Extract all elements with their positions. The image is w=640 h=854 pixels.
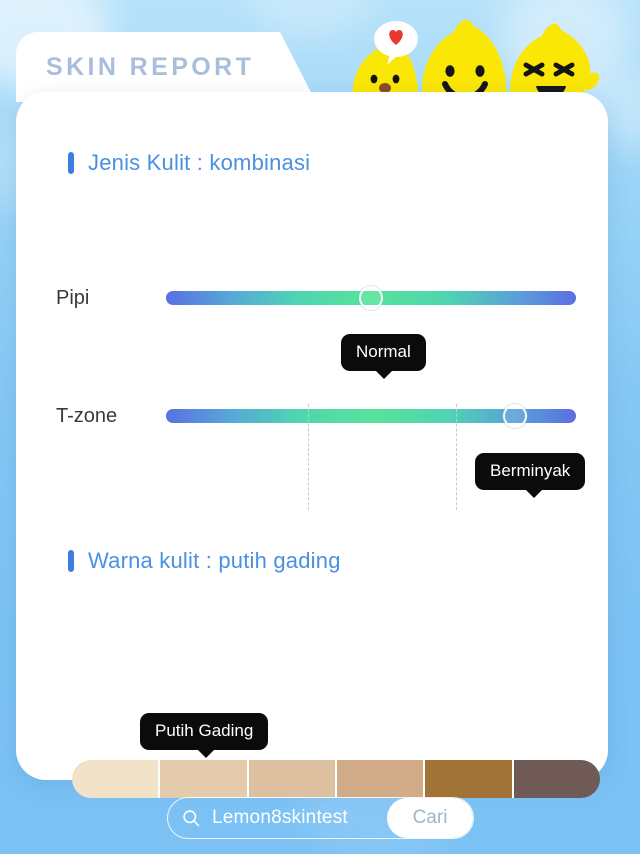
report-card: Jenis Kulit : kombinasi Pipi T-zone Norm… <box>16 92 608 780</box>
skin-tone-swatch[interactable] <box>337 760 425 798</box>
slider-track-tzone[interactable] <box>166 396 576 436</box>
search-submit-button[interactable]: Cari <box>387 798 473 838</box>
slider-guide-line <box>456 404 457 510</box>
slider-row-tzone: T-zone <box>56 396 576 436</box>
slider-guide-line <box>308 404 309 510</box>
skin-tone-swatch[interactable] <box>160 760 248 798</box>
search-bar[interactable]: Lemon8skintest Cari <box>167 797 474 839</box>
slider-row-pipi: Pipi <box>56 278 576 318</box>
skin-type-heading-label: Jenis Kulit : kombinasi <box>88 150 310 176</box>
screen: SKIN REPORT Jenis Kulit : kombinasi Pipi… <box>0 0 640 854</box>
skin-tone-swatch-strip[interactable] <box>72 760 600 798</box>
slider-thumb-tzone[interactable] <box>503 404 527 428</box>
heading-accent-bar <box>68 152 74 174</box>
skin-tone-swatch[interactable] <box>72 760 160 798</box>
tooltip-tzone: Berminyak <box>475 453 585 490</box>
skin-tone-swatch[interactable] <box>425 760 513 798</box>
slider-label-pipi: Pipi <box>56 287 166 310</box>
skin-type-heading: Jenis Kulit : kombinasi <box>68 150 310 176</box>
tooltip-pipi: Normal <box>341 334 426 371</box>
tooltip-skin-tone: Putih Gading <box>140 713 268 750</box>
slider-label-tzone: T-zone <box>56 405 166 428</box>
search-input[interactable]: Lemon8skintest <box>212 807 387 829</box>
slider-thumb-pipi[interactable] <box>359 286 383 310</box>
slider-track-pipi[interactable] <box>166 278 576 318</box>
skin-tone-heading: Warna kulit : putih gading <box>68 548 341 574</box>
skin-tone-swatch[interactable] <box>249 760 337 798</box>
heading-accent-bar <box>68 550 74 572</box>
page-title: SKIN REPORT <box>46 53 254 82</box>
search-icon <box>181 808 202 829</box>
skin-tone-swatch[interactable] <box>514 760 600 798</box>
skin-tone-heading-label: Warna kulit : putih gading <box>88 548 341 574</box>
